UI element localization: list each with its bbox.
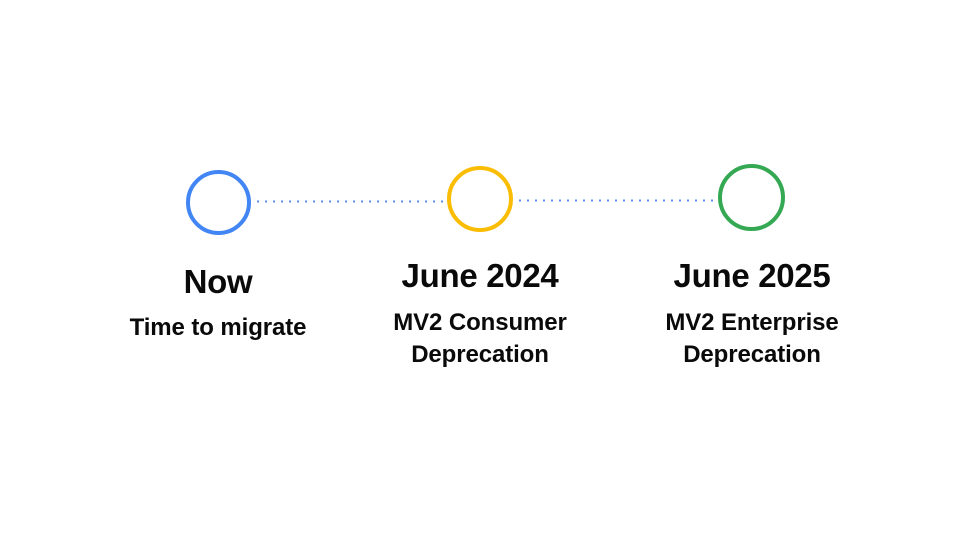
timeline-label-june-2024: June 2024 MV2 Consumer Deprecation — [338, 257, 622, 371]
milestone-subtitle-now: Time to migrate — [76, 312, 360, 344]
milestone-title-june-2024: June 2024 — [338, 257, 622, 295]
timeline-diagram: Now Time to migrate June 2024 MV2 Consum… — [0, 0, 960, 540]
milestone-subtitle-june-2024-line-2: Deprecation — [338, 339, 622, 371]
milestone-subtitle-june-2024: MV2 Consumer Deprecation — [338, 307, 622, 371]
milestone-title-now: Now — [76, 263, 360, 301]
timeline-connector-now-to-june-2024 — [254, 200, 448, 203]
timeline-label-now: Now Time to migrate — [76, 263, 360, 344]
milestone-subtitle-now-line-1: Time to migrate — [76, 312, 360, 344]
timeline-marker-june-2025 — [718, 164, 785, 231]
timeline-marker-june-2024 — [447, 166, 513, 232]
timeline-labels: Now Time to migrate June 2024 MV2 Consum… — [0, 255, 960, 415]
milestone-subtitle-june-2025: MV2 Enterprise Deprecation — [610, 307, 894, 371]
milestone-subtitle-june-2025-line-2: Deprecation — [610, 339, 894, 371]
timeline-label-june-2025: June 2025 MV2 Enterprise Deprecation — [610, 257, 894, 371]
timeline-connector-june-2024-to-june-2025 — [516, 199, 718, 202]
milestone-title-june-2025: June 2025 — [610, 257, 894, 295]
milestone-subtitle-june-2024-line-1: MV2 Consumer — [338, 307, 622, 339]
milestone-subtitle-june-2025-line-1: MV2 Enterprise — [610, 307, 894, 339]
timeline-marker-now — [186, 170, 251, 235]
